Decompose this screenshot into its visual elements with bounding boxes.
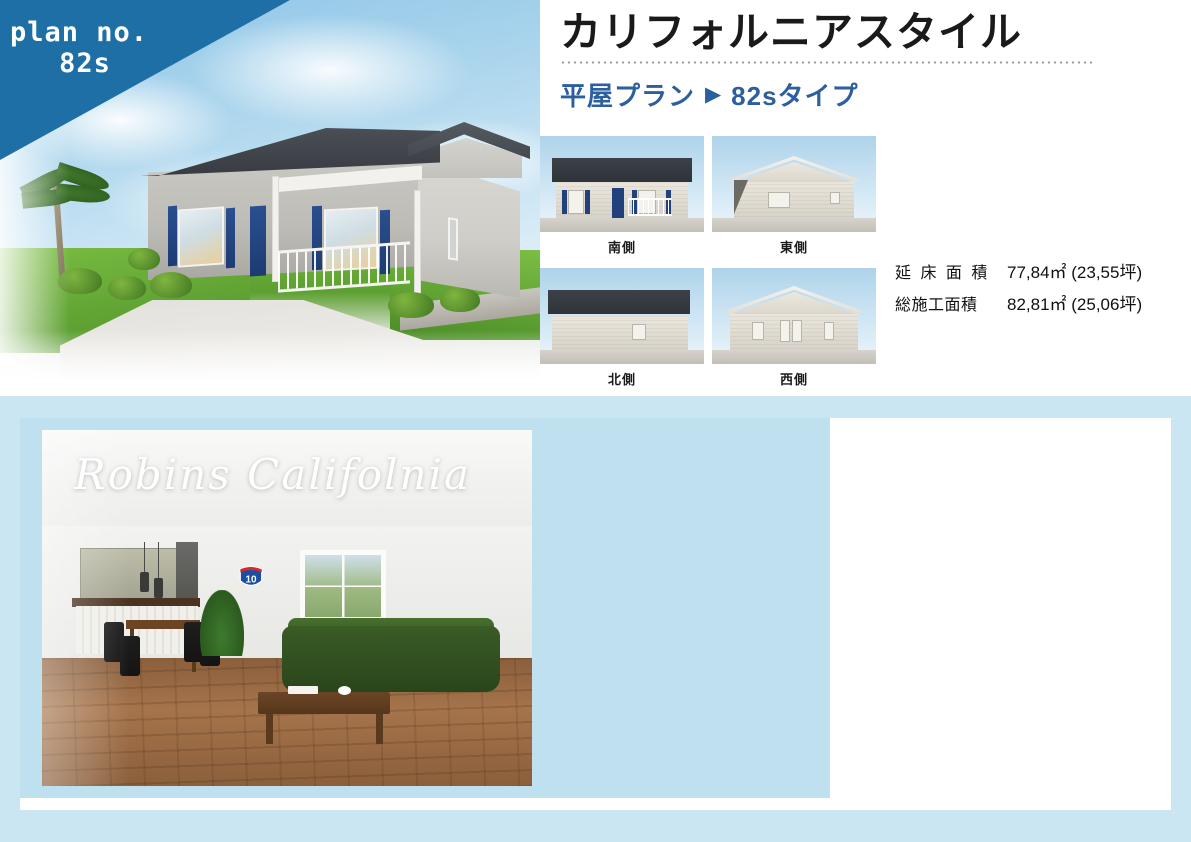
elevation-window	[632, 324, 646, 340]
elevation-east: 東側	[712, 136, 876, 256]
elevation-roof	[552, 158, 692, 182]
elevation-roof	[548, 290, 690, 314]
elevation-label-south: 南側	[540, 237, 704, 256]
front-door	[250, 205, 266, 276]
elevation-window	[780, 320, 790, 342]
green-sofa	[282, 626, 500, 692]
area-row-floor: 延 床 面 積 77,84㎡ (23,55坪)	[895, 258, 1185, 283]
photo-edge-fade-bottom	[0, 330, 540, 390]
elevation-west: 西側	[712, 268, 876, 388]
elevation-window	[568, 190, 584, 214]
pendant-wire	[158, 542, 159, 580]
area-label-total: 総施工面積	[895, 291, 1007, 315]
shrub	[388, 292, 434, 318]
subtitle-row: 平屋プラン ▶ 82sタイプ	[560, 76, 1180, 113]
table-book	[288, 686, 318, 694]
title-divider	[560, 61, 1095, 64]
plan-number-label: plan no.	[10, 16, 180, 50]
coffee-table-leg	[266, 712, 273, 744]
elevation-ground	[540, 218, 704, 232]
elevation-north-image	[540, 268, 704, 364]
interior-rendering-photo: 10 Robins Califolnia	[42, 430, 532, 786]
elevation-label-east: 東側	[712, 237, 876, 256]
area-value-total: 82,81㎡ (25,06坪)	[1007, 290, 1142, 315]
window-side	[448, 217, 458, 261]
bottom-white-panel: 10 Robins Califolnia	[20, 418, 1171, 810]
coffee-table-leg	[376, 712, 383, 744]
shrub	[128, 248, 160, 270]
elevation-east-image	[712, 136, 876, 232]
living-room-window	[300, 550, 386, 622]
elevation-shutter	[585, 190, 590, 214]
shrub	[108, 276, 146, 300]
pendant-wire	[144, 542, 145, 574]
area-value-floor: 77,84㎡ (23,55坪)	[1007, 258, 1142, 283]
elevation-north: 北側	[540, 268, 704, 388]
elevation-window	[752, 322, 764, 340]
elevation-siding	[552, 316, 688, 350]
shrub	[150, 272, 192, 298]
elevation-west-image	[712, 268, 876, 364]
elevation-ground	[712, 350, 876, 364]
elevation-window	[792, 320, 802, 342]
potted-plant	[200, 590, 244, 656]
interior-script-logo: Robins Califolnia	[74, 450, 494, 499]
elevation-window	[830, 192, 840, 204]
pendant-lamp	[140, 572, 149, 592]
window-left	[178, 206, 224, 267]
coffee-table	[258, 692, 390, 714]
svg-text:10: 10	[245, 574, 257, 585]
elevation-south-image	[540, 136, 704, 232]
pendant-lamp	[154, 578, 163, 598]
shutter-left-b	[226, 208, 235, 269]
porch-post-b	[414, 190, 421, 296]
title-block: カリフォルニアスタイル 平屋プラン ▶ 82sタイプ	[560, 8, 1180, 118]
bottom-section: 10 Robins Califolnia	[0, 396, 1191, 842]
elevation-porch-rail	[628, 198, 672, 216]
area-label-floor: 延 床 面 積	[895, 259, 1007, 283]
coffee-cup	[338, 686, 351, 695]
shrub	[440, 288, 480, 312]
top-section: plan no. 82s カリフォルニアスタイル 平屋プラン ▶ 82sタイプ	[0, 0, 1191, 396]
triangle-right-icon: ▶	[705, 84, 721, 105]
elevation-thumbnails: 南側 東側	[540, 136, 880, 394]
plan-number-value: 82s	[10, 48, 160, 79]
interstate-highway-sign-icon: 10	[238, 564, 264, 590]
elevation-label-west: 西側	[712, 369, 876, 388]
elevation-window	[824, 322, 834, 340]
elevation-ground	[540, 350, 704, 364]
shutter-left-a	[168, 206, 177, 267]
subtitle-model-type: 82sタイプ	[731, 76, 858, 113]
area-info-block: 延 床 面 積 77,84㎡ (23,55坪) 総施工面積 82,81㎡ (25…	[895, 258, 1185, 322]
elevation-south: 南側	[540, 136, 704, 256]
range-hood	[176, 542, 198, 604]
elevation-label-north: 北側	[540, 369, 704, 388]
elevation-window	[768, 192, 790, 208]
elevation-shutter	[562, 190, 567, 214]
elevation-ground	[712, 218, 876, 232]
brochure-page: plan no. 82s カリフォルニアスタイル 平屋プラン ▶ 82sタイプ	[0, 0, 1191, 842]
area-row-total: 総施工面積 82,81㎡ (25,06坪)	[895, 290, 1185, 315]
page-title: カリフォルニアスタイル	[560, 8, 1180, 57]
dining-chair	[120, 636, 140, 676]
subtitle-plan-type: 平屋プラン	[560, 76, 695, 113]
elevation-door	[612, 188, 624, 218]
